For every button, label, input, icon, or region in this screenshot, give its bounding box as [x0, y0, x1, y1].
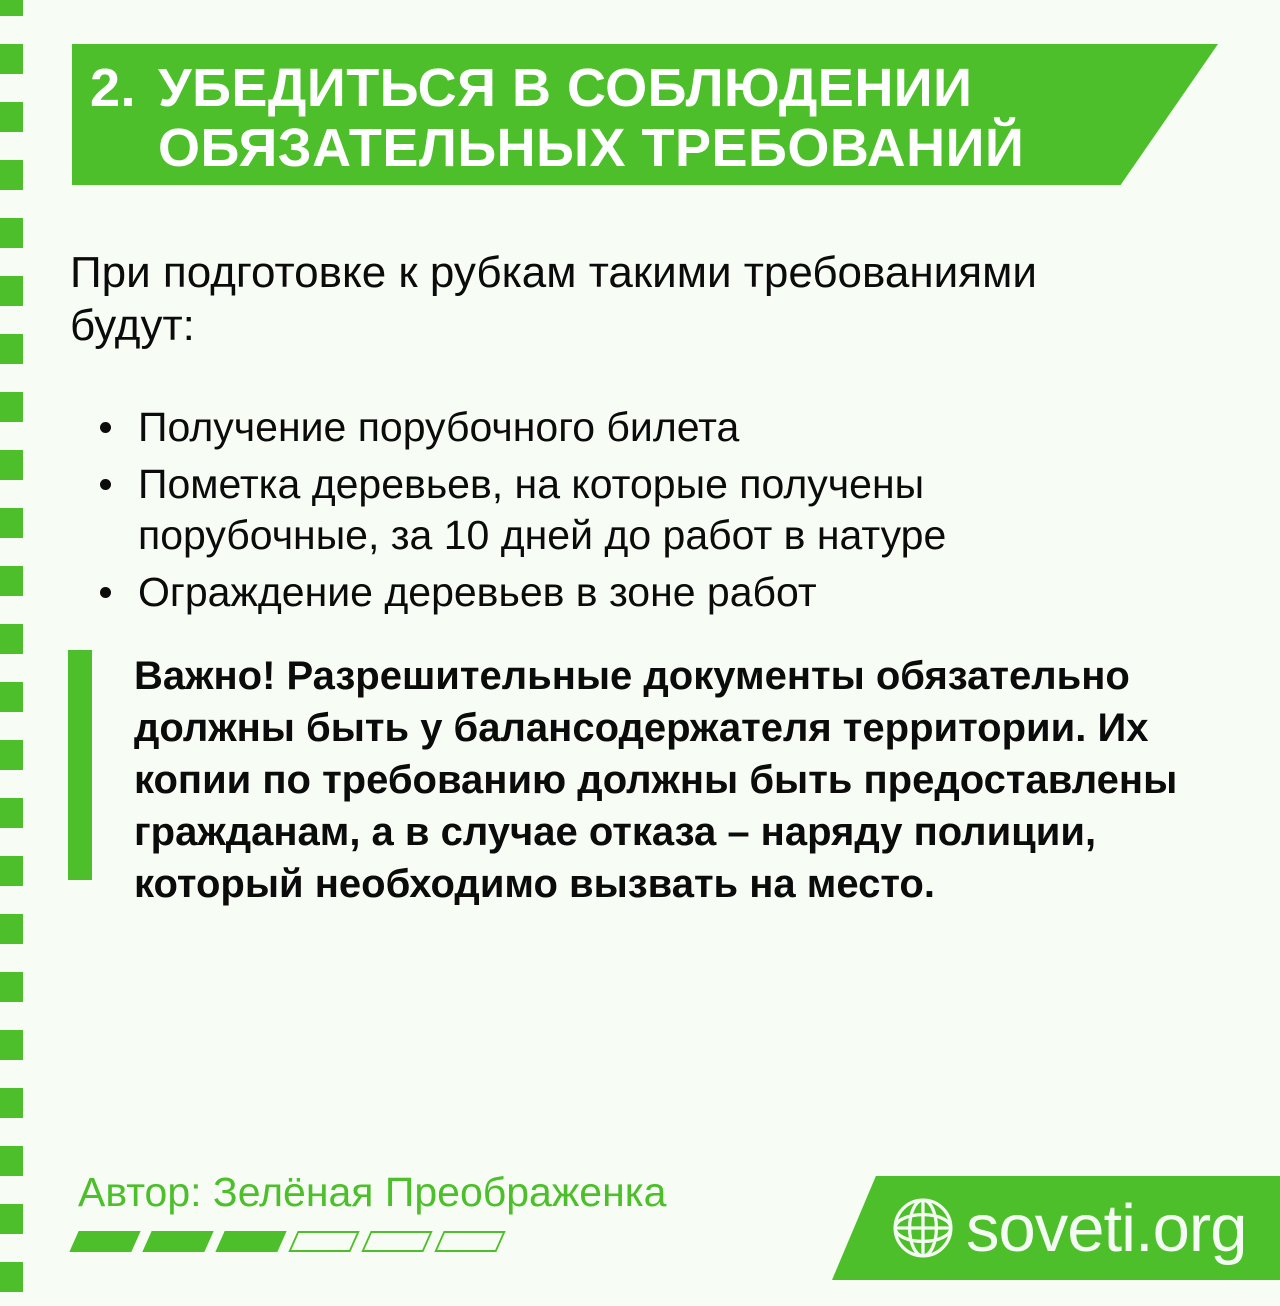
- progress-segment-filled: [142, 1231, 213, 1252]
- list-item-label: Получение порубочного билета: [138, 404, 739, 450]
- site-logo: soveti.org: [832, 1195, 1246, 1262]
- header-banner: 2.УБЕДИТЬСЯ В СОБЛЮДЕНИИ ОБЯЗАТЕЛЬНЫХ ТР…: [72, 44, 1218, 185]
- progress-segment-filled: [215, 1231, 286, 1252]
- progress-segment-empty: [434, 1231, 505, 1252]
- callout-accent-bar: [68, 650, 92, 880]
- progress-segment-filled: [69, 1231, 140, 1252]
- site-logo-banner[interactable]: soveti.org: [832, 1176, 1280, 1280]
- list-item-label: Пометка деревьев, на которые получены по…: [138, 461, 946, 558]
- slide-progress-indicator: [74, 1231, 501, 1252]
- list-item-label: Ограждение деревьев в зоне работ: [138, 569, 817, 615]
- list-item: Получение порубочного билета: [98, 402, 1098, 453]
- left-dashed-rail: [0, 0, 23, 1306]
- page-title: 2.УБЕДИТЬСЯ В СОБЛЮДЕНИИ ОБЯЗАТЕЛЬНЫХ ТР…: [72, 58, 1218, 178]
- progress-segment-empty: [288, 1231, 359, 1252]
- progress-segment-empty: [361, 1231, 432, 1252]
- bullet-dot-icon: [100, 587, 111, 598]
- requirements-list: Получение порубочного билета Пометка дер…: [98, 402, 1098, 624]
- page-title-line-2: ОБЯЗАТЕЛЬНЫХ ТРЕБОВАНИЙ: [72, 118, 1218, 178]
- author-credit: Автор: Зелёная Преображенка: [78, 1168, 666, 1216]
- bullet-dot-icon: [100, 422, 111, 433]
- page-title-text-1: УБЕДИТЬСЯ В СОБЛЮДЕНИИ: [158, 58, 972, 118]
- step-number: 2.: [90, 58, 158, 118]
- callout-text: Важно! Разрешительные документы обязател…: [68, 650, 1178, 910]
- bullet-dot-icon: [100, 479, 111, 490]
- globe-icon: [890, 1195, 956, 1261]
- important-callout: Важно! Разрешительные документы обязател…: [68, 650, 1178, 910]
- list-item: Пометка деревьев, на которые получены по…: [98, 459, 1098, 561]
- list-item: Ограждение деревьев в зоне работ: [98, 567, 1098, 618]
- intro-paragraph: При подготовке к рубкам такими требовани…: [70, 246, 1100, 352]
- page-title-line-1: 2.УБЕДИТЬСЯ В СОБЛЮДЕНИИ: [72, 58, 1218, 118]
- site-logo-text: soveti.org: [966, 1195, 1246, 1262]
